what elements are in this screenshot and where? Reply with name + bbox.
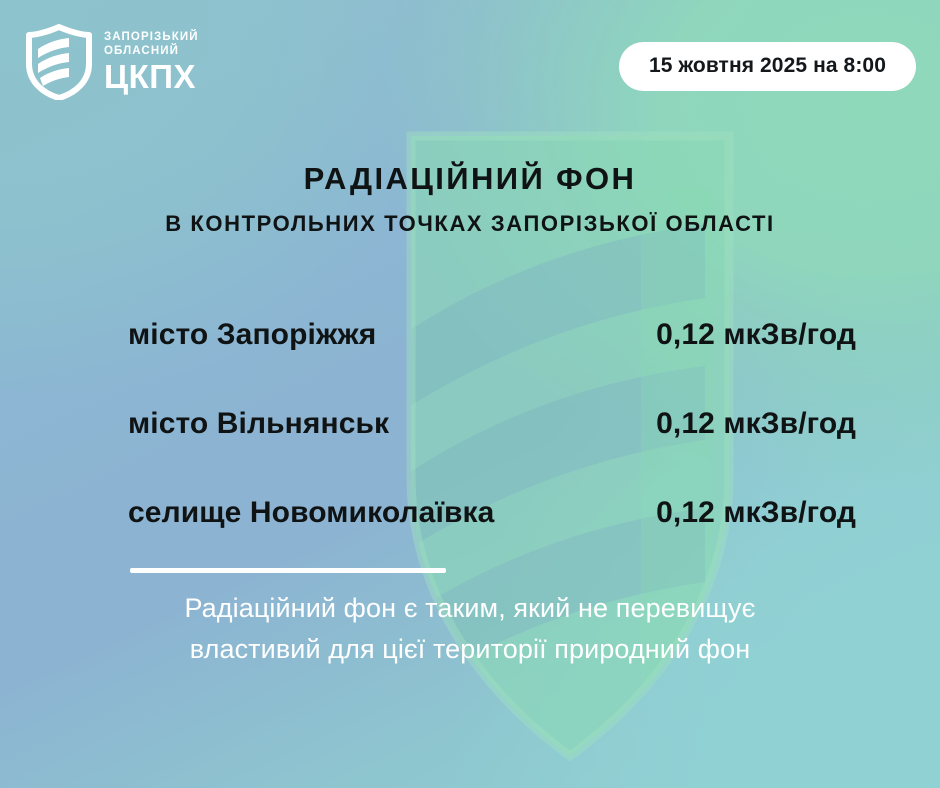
brand-acronym: ЦКПХ	[104, 60, 199, 94]
divider	[130, 568, 446, 573]
brand-logo: ЗАПОРІЗЬКИЙ ОБЛАСНИЙ ЦКПХ	[26, 24, 199, 100]
reading-row: місто Вільнянськ 0,12 мкЗв/год	[128, 407, 856, 496]
readings-list: місто Запоріжжя 0,12 мкЗв/год місто Віль…	[128, 318, 856, 585]
radiation-background-poster: ЗАПОРІЗЬКИЙ ОБЛАСНИЙ ЦКПХ 15 жовтня 2025…	[0, 0, 940, 788]
page-subtitle: В КОНТРОЛЬНИХ ТОЧКАХ ЗАПОРІЗЬКОЇ ОБЛАСТІ	[0, 212, 940, 236]
brand-line-2: ОБЛАСНИЙ	[104, 44, 199, 58]
brand-wordmark: ЗАПОРІЗЬКИЙ ОБЛАСНИЙ ЦКПХ	[104, 30, 199, 94]
page-title-block: РАДІАЦІЙНИЙ ФОН В КОНТРОЛЬНИХ ТОЧКАХ ЗАП…	[0, 162, 940, 236]
reading-row: місто Запоріжжя 0,12 мкЗв/год	[128, 318, 856, 407]
reading-value: 0,12 мкЗв/год	[656, 318, 856, 352]
reading-location: місто Запоріжжя	[128, 318, 376, 352]
footnote-line-1: Радіаційний фон є таким, який не перевищ…	[0, 588, 940, 629]
page-title: РАДІАЦІЙНИЙ ФОН	[0, 162, 940, 196]
reading-location: місто Вільнянськ	[128, 407, 389, 441]
reading-value: 0,12 мкЗв/год	[656, 496, 856, 530]
reading-location: селище Новомиколаївка	[128, 496, 494, 530]
reading-value: 0,12 мкЗв/год	[656, 407, 856, 441]
brand-line-1: ЗАПОРІЗЬКИЙ	[104, 30, 199, 44]
date-badge: 15 жовтня 2025 на 8:00	[619, 42, 916, 91]
shield-with-bars-icon	[26, 24, 92, 100]
footnote: Радіаційний фон є таким, який не перевищ…	[0, 588, 940, 669]
footnote-line-2: властивий для цієї території природний ф…	[0, 629, 940, 670]
